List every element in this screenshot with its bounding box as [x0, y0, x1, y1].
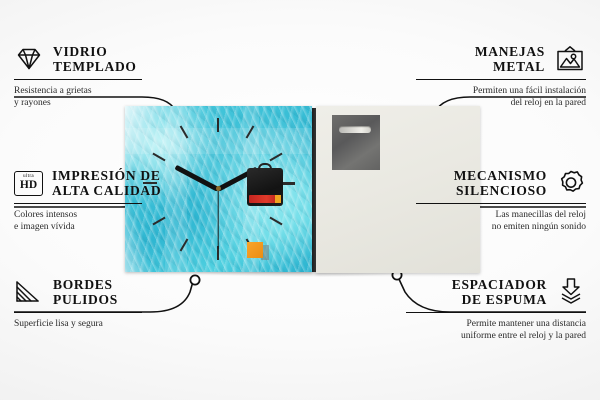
picture-frame-hanger-icon	[554, 45, 586, 73]
callout-rule	[14, 312, 142, 313]
callout-title-line2: ALTA CALIDAD	[52, 183, 161, 198]
mechanism-hook	[258, 163, 272, 171]
callout-sub-line1: Las manecillas del reloj	[336, 209, 586, 221]
callout-sub-line2: uniforme entre el reloj y la pared	[326, 330, 586, 342]
callout-title-line2: METAL	[475, 59, 545, 74]
callout-manejas-metal: MANEJAS METAL Permiten una fácil instala…	[336, 44, 586, 109]
callout-header: VIDRIO TEMPLADO	[14, 44, 224, 74]
callout-sub-line1: Permiten una fácil instalación	[336, 85, 586, 97]
clock-tick	[217, 118, 219, 132]
clock-tick	[180, 238, 189, 251]
callout-title-line1: VIDRIO	[53, 44, 137, 59]
callout-rule	[406, 312, 586, 313]
clock-tick	[180, 125, 189, 138]
clock-tick	[246, 125, 255, 138]
clock-tick	[152, 153, 165, 162]
ultra-hd-icon-main: HD	[20, 180, 37, 192]
callout-title-line2: DE ESPUMA	[452, 292, 547, 307]
callout-sub-line1: Colores intensos	[14, 209, 234, 221]
hanger-plate	[332, 115, 380, 170]
diamond-icon	[14, 46, 44, 72]
callout-vidrio-templado: VIDRIO TEMPLADO Resistencia a grietas y …	[14, 44, 224, 109]
callout-rule	[14, 79, 142, 80]
foam-spacer	[247, 242, 263, 258]
callout-rule	[416, 79, 586, 80]
callout-header: MECANISMO SILENCIOSO	[336, 168, 586, 198]
callout-header: ESPACIADOR DE ESPUMA	[326, 277, 586, 307]
callout-title-line1: IMPRESIÓN DE	[52, 168, 161, 183]
gear-icon	[556, 169, 586, 197]
callout-bordes-pulidos: BORDES PULIDOS Superficie lisa y segura	[14, 277, 234, 330]
callout-sub-line1: Permite mantener una distancia	[326, 318, 586, 330]
callout-sub-line2: no emiten ningún sonido	[336, 221, 586, 233]
callout-sub-line1: Superficie lisa y segura	[14, 318, 234, 330]
mechanism-chip	[275, 195, 281, 203]
polished-edge-icon	[14, 279, 44, 305]
callout-title-line2: PULIDOS	[53, 292, 118, 307]
infographic-canvas: VIDRIO TEMPLADO Resistencia a grietas y …	[0, 0, 600, 400]
arrow-down-pad-icon	[556, 277, 586, 307]
callout-impresion-alta-calidad: ultra HD IMPRESIÓN DE ALTA CALIDAD Color…	[14, 168, 234, 233]
clock-tick	[269, 153, 282, 162]
callout-rule	[416, 203, 586, 204]
clock-tick	[269, 217, 282, 226]
callout-sub-line1: Resistencia a grietas	[14, 85, 224, 97]
hanger-slot	[339, 126, 371, 133]
callout-title-line1: MANEJAS	[475, 44, 545, 59]
callout-sub-line2: y rayones	[14, 97, 224, 109]
ultra-hd-icon: ultra HD	[14, 171, 43, 196]
callout-sub-line2: e imagen vívida	[14, 221, 234, 233]
callout-header: MANEJAS METAL	[336, 44, 586, 74]
callout-header: BORDES PULIDOS	[14, 277, 234, 307]
callout-title-line2: TEMPLADO	[53, 59, 137, 74]
callout-rule	[14, 203, 142, 204]
callout-espaciador-espuma: ESPACIADOR DE ESPUMA Permite mantener un…	[326, 277, 586, 342]
callout-title-line1: ESPACIADOR	[452, 277, 547, 292]
callout-title-line1: BORDES	[53, 277, 118, 292]
callout-title-line2: SILENCIOSO	[454, 183, 547, 198]
callout-header: ultra HD IMPRESIÓN DE ALTA CALIDAD	[14, 168, 234, 198]
callout-mecanismo-silencioso: MECANISMO SILENCIOSO Las manecillas del …	[336, 168, 586, 233]
callout-title-line1: MECANISMO	[454, 168, 547, 183]
callout-sub-line2: del reloj en la pared	[336, 97, 586, 109]
clock-mechanism	[247, 168, 283, 206]
